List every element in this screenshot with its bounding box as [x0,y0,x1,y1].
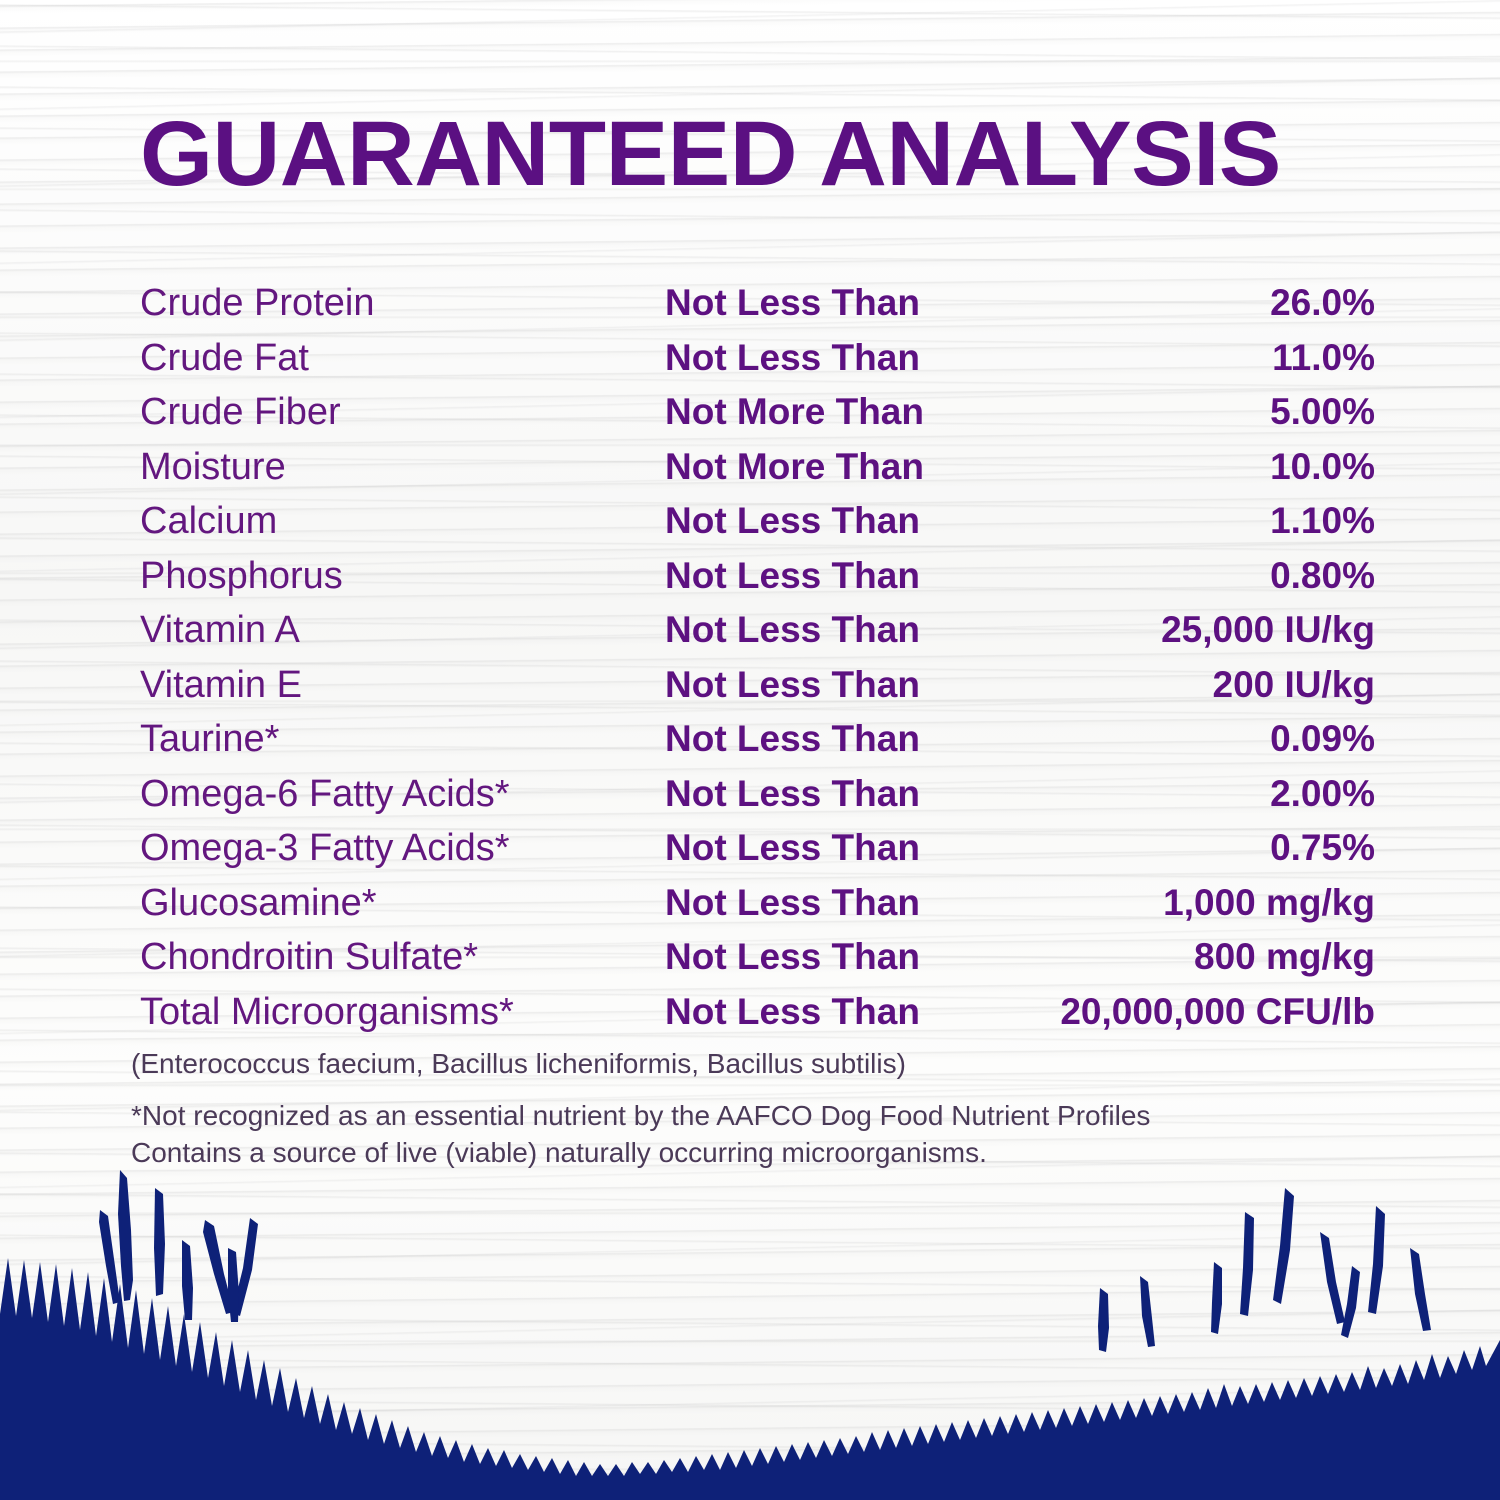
nutrient-label: Vitamin E [140,664,665,707]
nutrient-label: Glucosamine* [140,882,665,925]
nutrient-label: Phosphorus [140,555,665,598]
limit-label: Not Less Than [665,936,995,978]
footnote-aafco: *Not recognized as an essential nutrient… [131,1097,1150,1134]
table-row: Omega-6 Fatty Acids* Not Less Than 2.00% [140,773,1375,828]
limit-label: Not Less Than [665,337,995,379]
table-row: Moisture Not More Than 10.0% [140,446,1375,501]
nutrient-value: 5.00% [995,391,1375,433]
limit-label: Not More Than [665,391,995,433]
nutrient-value: 10.0% [995,446,1375,488]
nutrient-value: 11.0% [995,337,1375,379]
nutrient-value: 200 IU/kg [995,664,1375,706]
nutrient-value: 1.10% [995,500,1375,542]
nutrient-label: Calcium [140,500,665,543]
grass-silhouette-icon [0,1170,1500,1500]
nutrient-label: Total Microorganisms* [140,991,665,1034]
table-row: Calcium Not Less Than 1.10% [140,500,1375,555]
table-row: Phosphorus Not Less Than 0.80% [140,555,1375,610]
nutrient-value: 20,000,000 CFU/lb [995,991,1375,1033]
nutrient-label: Omega-6 Fatty Acids* [140,773,665,816]
nutrient-label: Moisture [140,446,665,489]
limit-label: Not Less Than [665,827,995,869]
nutrient-value: 0.09% [995,718,1375,760]
limit-label: Not Less Than [665,664,995,706]
nutrient-label: Crude Protein [140,282,665,325]
footnote-live-microorganisms: Contains a source of live (viable) natur… [131,1134,1150,1171]
footnote-block: *Not recognized as an essential nutrient… [131,1097,1150,1171]
page-title: GUARANTEED ANALYSIS [140,108,1384,200]
nutrient-label: Omega-3 Fatty Acids* [140,827,665,870]
nutrient-value: 1,000 mg/kg [995,882,1375,924]
table-row: Total Microorganisms* Not Less Than 20,0… [140,991,1375,1046]
limit-label: Not Less Than [665,882,995,924]
table-row: Glucosamine* Not Less Than 1,000 mg/kg [140,882,1375,937]
limit-label: Not Less Than [665,991,995,1033]
table-row: Vitamin E Not Less Than 200 IU/kg [140,664,1375,719]
nutrient-label: Taurine* [140,718,665,761]
limit-label: Not Less Than [665,555,995,597]
limit-label: Not Less Than [665,500,995,542]
nutrient-value: 2.00% [995,773,1375,815]
nutrient-value: 25,000 IU/kg [995,609,1375,651]
nutrient-label: Chondroitin Sulfate* [140,936,665,979]
table-row: Crude Fiber Not More Than 5.00% [140,391,1375,446]
table-row: Crude Protein Not Less Than 26.0% [140,282,1375,337]
microorganism-strains-note: (Enterococcus faecium, Bacillus lichenif… [131,1048,906,1080]
nutrient-value: 800 mg/kg [995,936,1375,978]
nutrient-value: 0.75% [995,827,1375,869]
nutrient-label: Crude Fiber [140,391,665,434]
limit-label: Not Less Than [665,718,995,760]
table-row: Crude Fat Not Less Than 11.0% [140,337,1375,392]
nutrient-label: Crude Fat [140,337,665,380]
table-row: Omega-3 Fatty Acids* Not Less Than 0.75% [140,827,1375,882]
table-row: Vitamin A Not Less Than 25,000 IU/kg [140,609,1375,664]
nutrient-value: 0.80% [995,555,1375,597]
limit-label: Not More Than [665,446,995,488]
guaranteed-analysis-table: Crude Protein Not Less Than 26.0% Crude … [140,282,1375,1045]
nutrient-value: 26.0% [995,282,1375,324]
nutrient-label: Vitamin A [140,609,665,652]
guaranteed-analysis-panel: GUARANTEED ANALYSIS Crude Protein Not Le… [0,0,1500,1500]
table-row: Chondroitin Sulfate* Not Less Than 800 m… [140,936,1375,991]
table-row: Taurine* Not Less Than 0.09% [140,718,1375,773]
limit-label: Not Less Than [665,609,995,651]
limit-label: Not Less Than [665,773,995,815]
limit-label: Not Less Than [665,282,995,324]
